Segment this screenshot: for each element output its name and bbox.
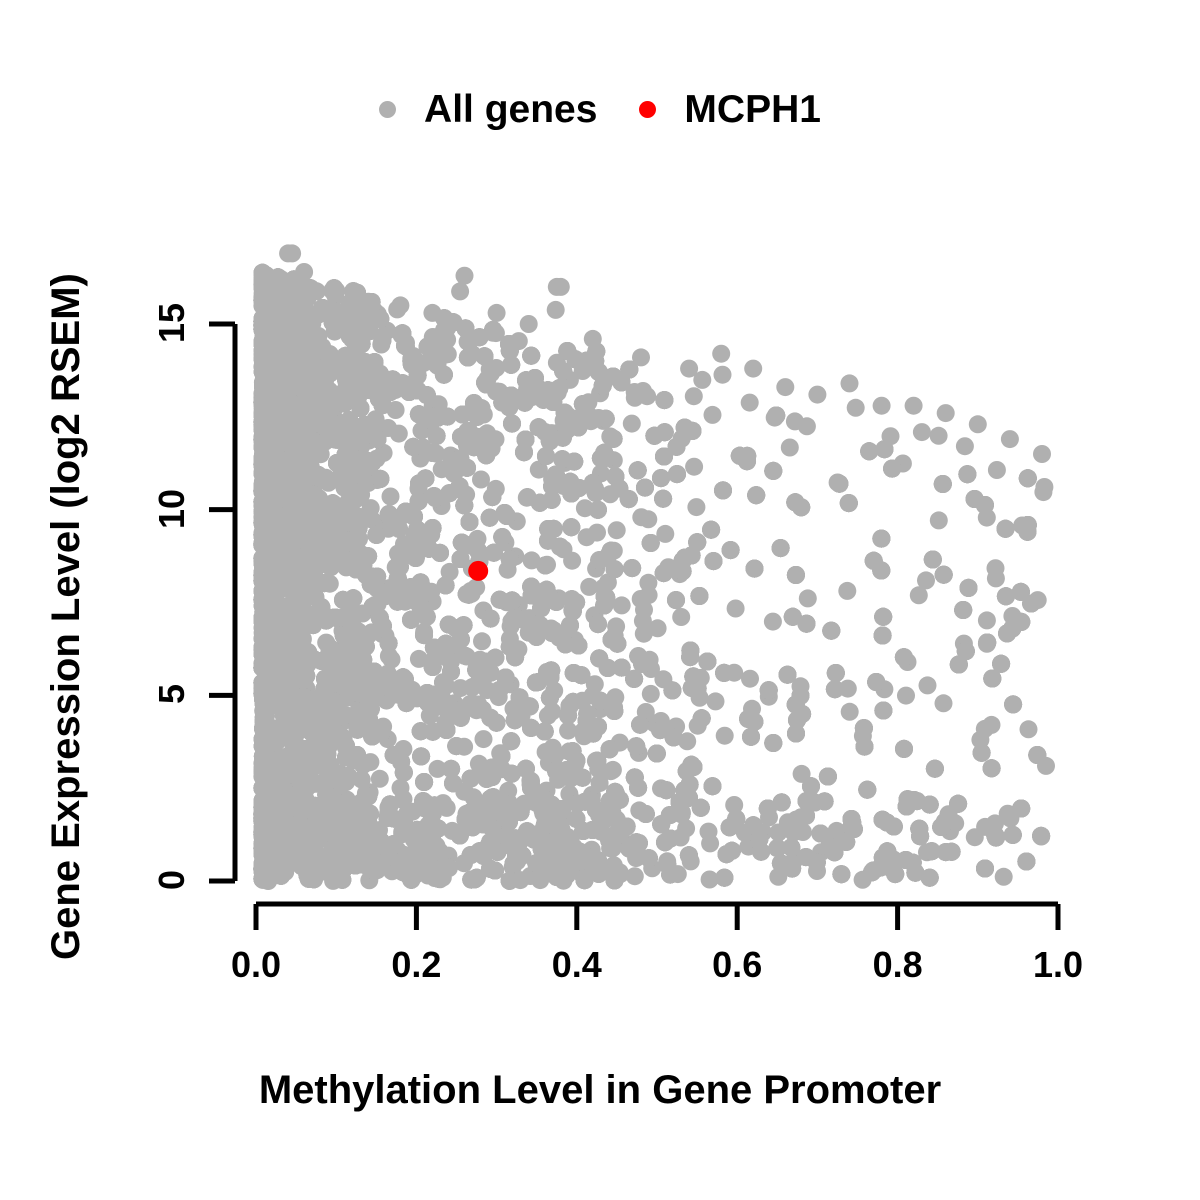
x-tick-label: 1.0 xyxy=(1033,944,1083,986)
mcph1-highlight-point[interactable] xyxy=(468,561,488,581)
x-axis-title: Methylation Level in Gene Promoter xyxy=(0,1068,1200,1113)
x-tick-label: 0.0 xyxy=(231,944,281,986)
scatter-canvas xyxy=(0,0,1200,1200)
x-tick-label: 0.2 xyxy=(391,944,441,986)
x-tick-label: 0.8 xyxy=(873,944,923,986)
all-genes-point-cloud xyxy=(253,244,1055,890)
y-tick-label: 15 xyxy=(150,302,194,344)
y-tick-label: 0 xyxy=(150,859,194,901)
plot-area xyxy=(0,0,1200,1200)
x-tick-label: 0.6 xyxy=(712,944,762,986)
y-tick-label: 10 xyxy=(150,488,194,530)
y-tick-label: 5 xyxy=(150,673,194,715)
x-tick-label: 0.4 xyxy=(552,944,602,986)
scatter-plot-figure: All genes MCPH1 Methylation Level in Gen… xyxy=(0,0,1200,1200)
